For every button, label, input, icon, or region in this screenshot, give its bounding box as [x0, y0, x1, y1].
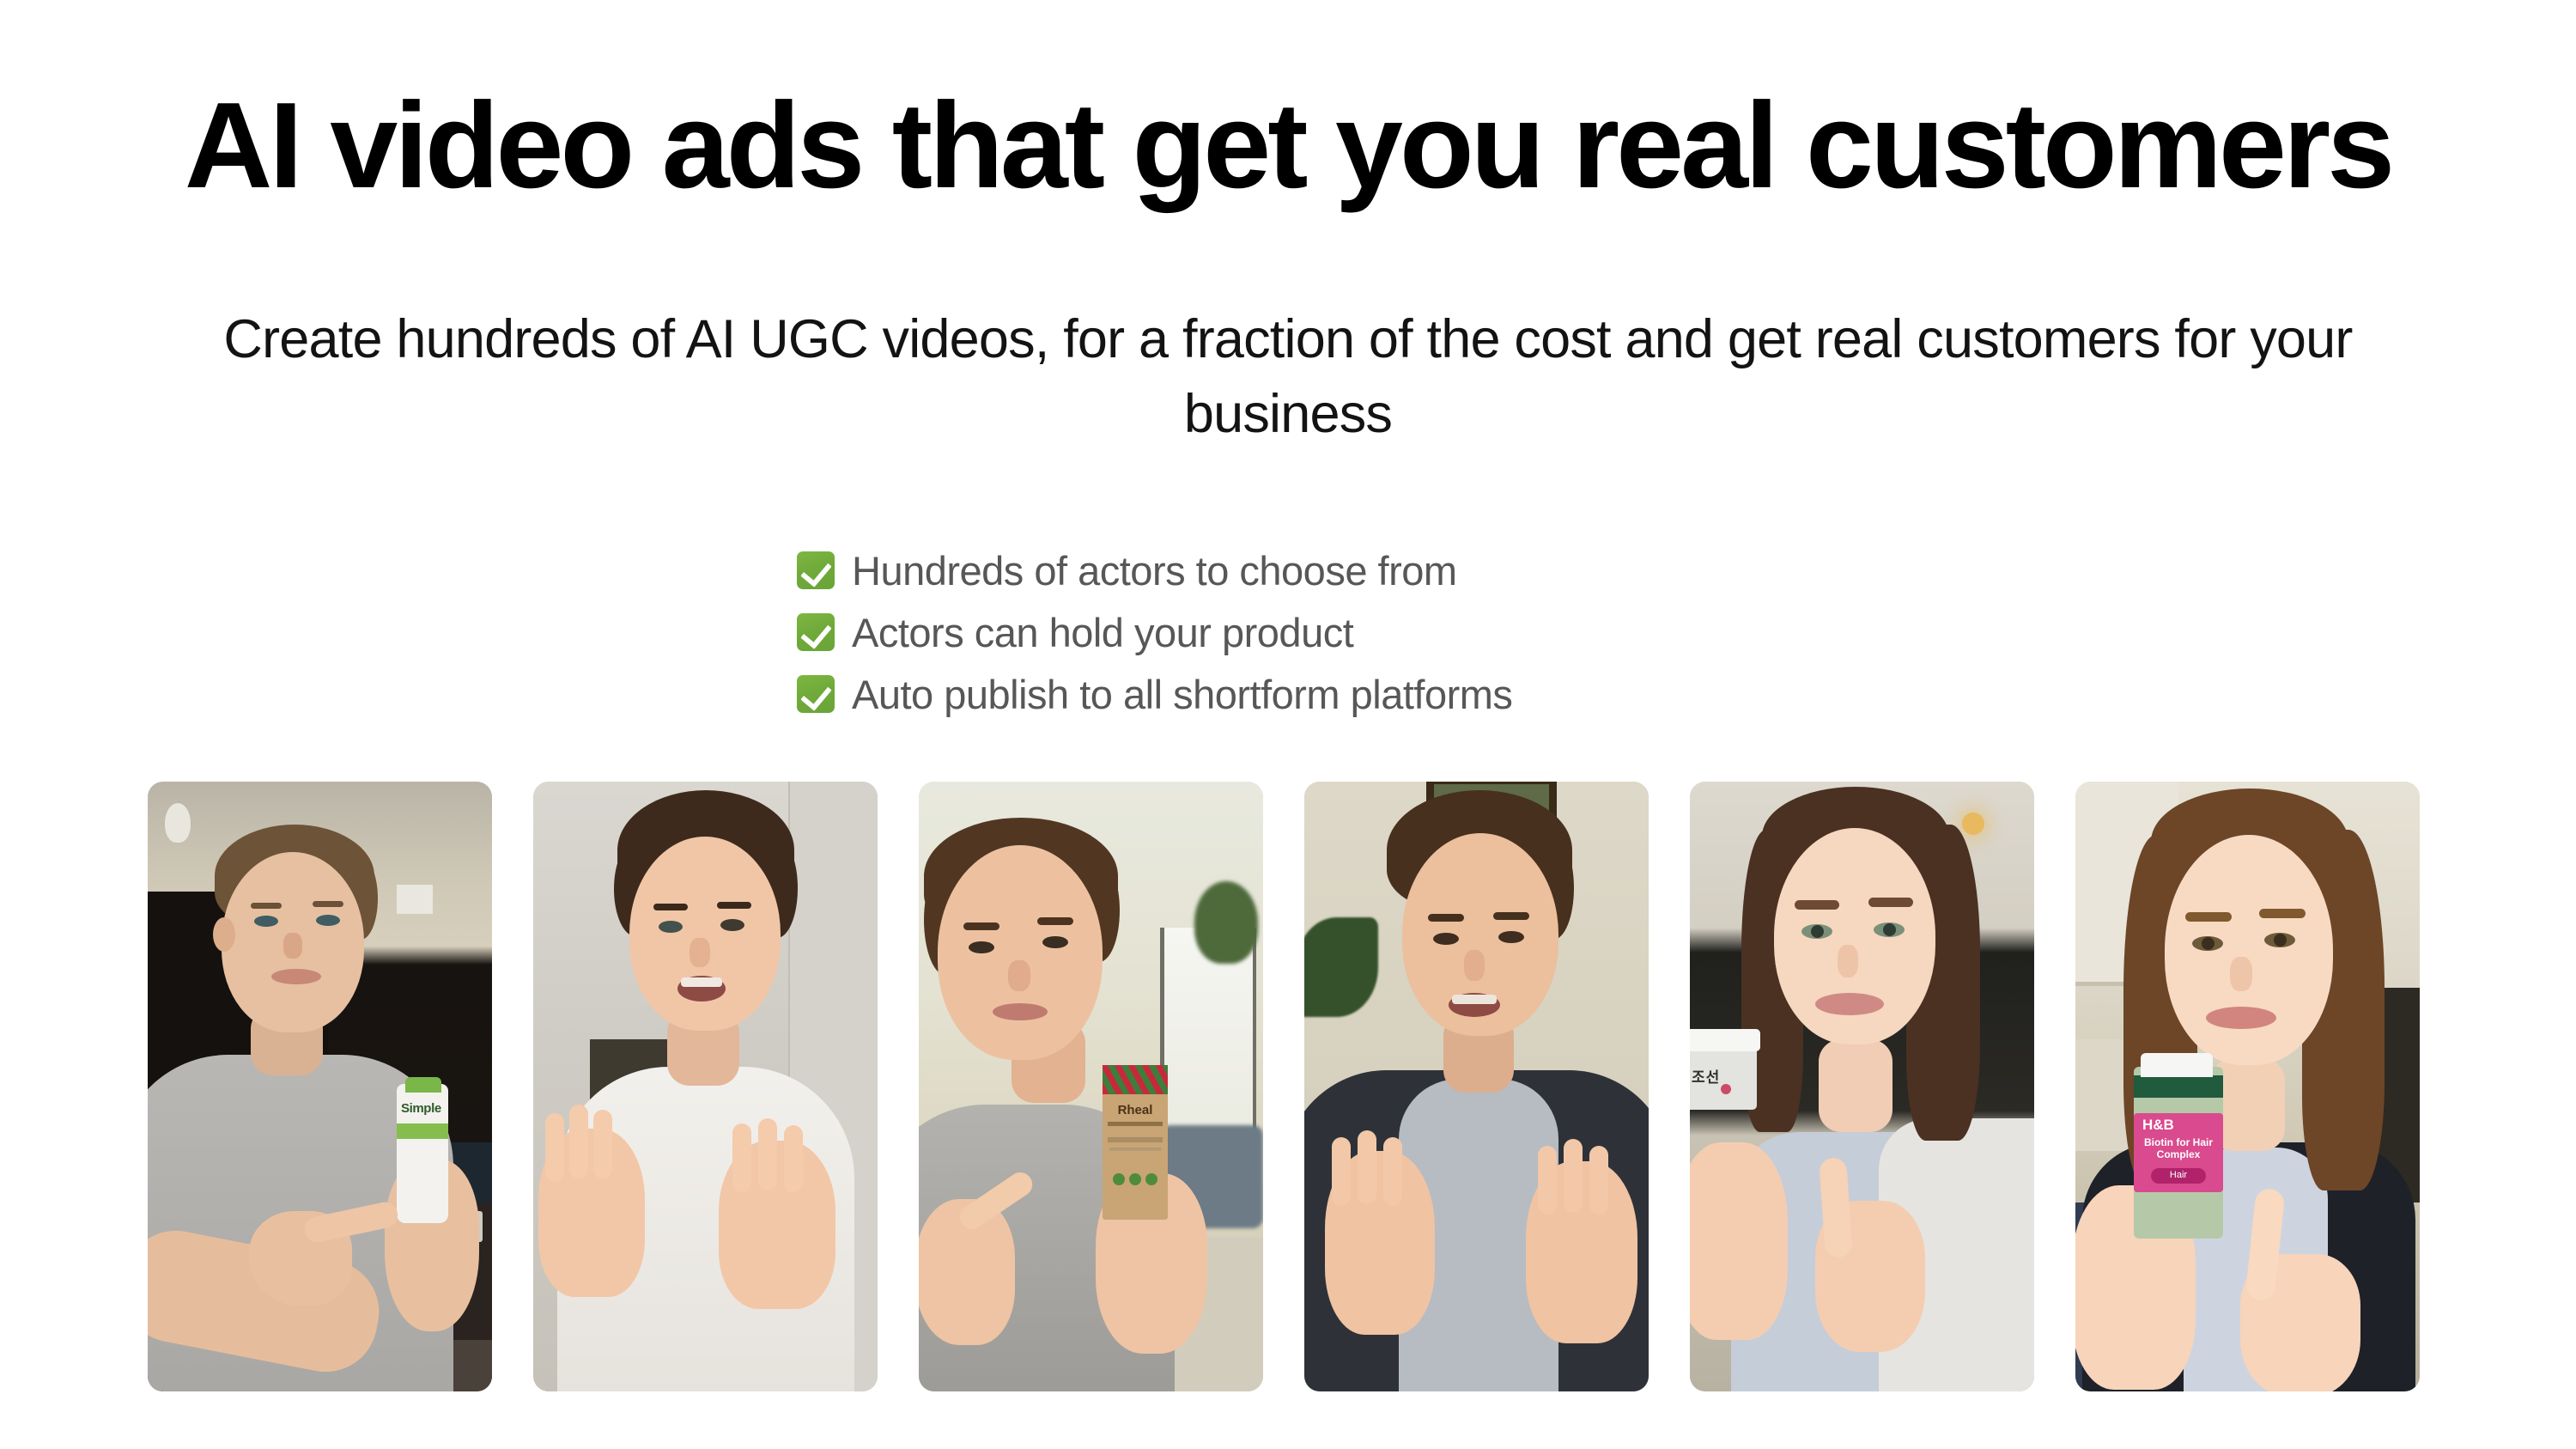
- video-thumbnail-card[interactable]: Simple: [148, 782, 492, 1391]
- page-title: AI video ads that get you real customers: [0, 84, 2576, 209]
- hero-subtitle: Create hundreds of AI UGC videos, for a …: [189, 302, 2387, 452]
- feature-item: Actors can hold your product: [797, 601, 1512, 663]
- video-thumbnail-card[interactable]: 조선: [1690, 782, 2034, 1391]
- hero-landing-page: AI video ads that get you real customers…: [0, 0, 2576, 1449]
- feature-label: Hundreds of actors to choose from: [852, 551, 1457, 591]
- thumbnail-image: 조선: [1690, 782, 2034, 1391]
- feature-label: Auto publish to all shortform platforms: [852, 674, 1512, 715]
- thumbnail-image: [1304, 782, 1649, 1391]
- feature-item: Auto publish to all shortform platforms: [797, 663, 1512, 725]
- video-thumbnail-card[interactable]: [533, 782, 878, 1391]
- white-check-mark-icon: [797, 551, 835, 589]
- feature-item: Hundreds of actors to choose from: [797, 539, 1512, 601]
- white-check-mark-icon: [797, 613, 835, 651]
- thumbnail-image: Simple: [148, 782, 492, 1391]
- product-brand-label: H&B: [2142, 1117, 2174, 1134]
- thumbnail-image: Rheal: [919, 782, 1263, 1391]
- feature-label: Actors can hold your product: [852, 612, 1353, 653]
- video-thumbnail-card[interactable]: [1304, 782, 1649, 1391]
- feature-list: Hundreds of actors to choose from Actors…: [797, 539, 1512, 725]
- product-name-label: Biotin for Hair Complex: [2136, 1137, 2221, 1161]
- video-thumbnail-row: Simple: [148, 782, 2430, 1391]
- thumbnail-image: [533, 782, 878, 1391]
- white-check-mark-icon: [797, 675, 835, 713]
- product-badge-label: Hair: [2151, 1170, 2206, 1180]
- video-thumbnail-card[interactable]: H&B Biotin for Hair Complex Hair: [2075, 782, 2420, 1391]
- video-thumbnail-card[interactable]: Rheal: [919, 782, 1263, 1391]
- thumbnail-image: H&B Biotin for Hair Complex Hair: [2075, 782, 2420, 1391]
